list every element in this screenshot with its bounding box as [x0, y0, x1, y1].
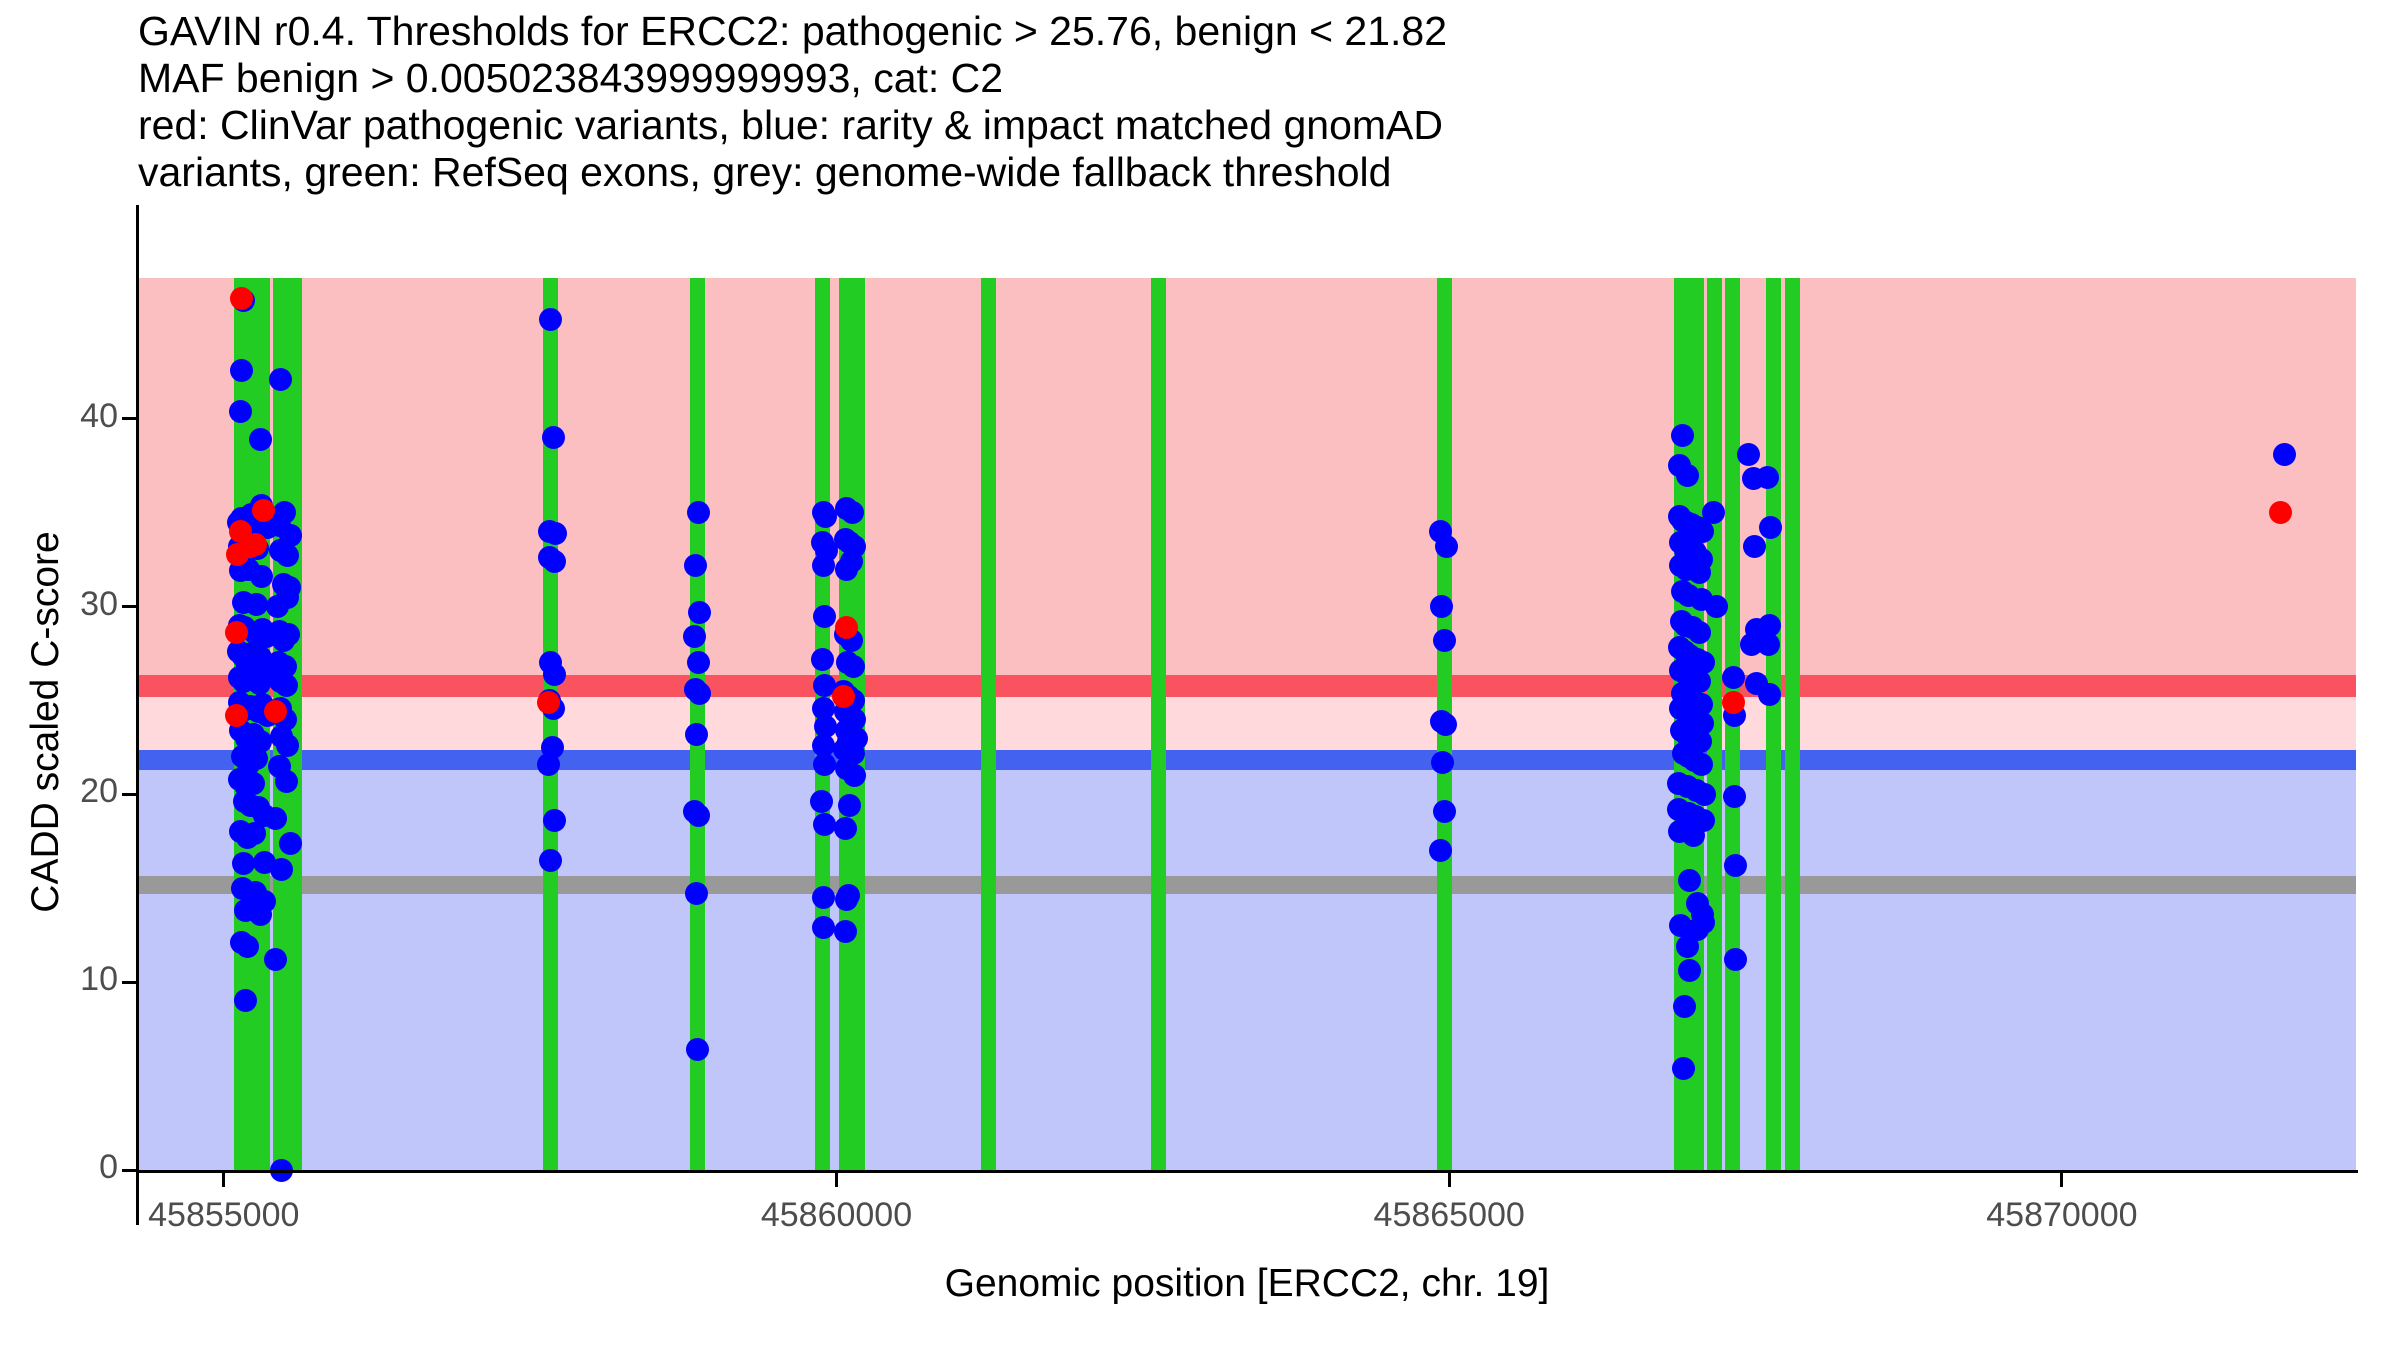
gnomad-variant-point — [1756, 466, 1779, 489]
exon-marker — [981, 278, 996, 1170]
ambiguous-region-band — [138, 686, 2356, 760]
gnomad-variant-point — [245, 593, 268, 616]
clinvar-pathogenic-point — [832, 685, 855, 708]
gnomad-variant-point — [1671, 424, 1694, 447]
title-line-4: variants, green: RefSeq exons, grey: gen… — [138, 149, 2338, 196]
x-tick-label: 45870000 — [1922, 1196, 2202, 1235]
clinvar-pathogenic-point — [264, 700, 287, 723]
gnomad-variant-point — [1737, 443, 1760, 466]
y-axis-label: CADD scaled C-score — [24, 322, 68, 1122]
gnomad-variant-point — [1676, 935, 1699, 958]
gnomad-variant-point — [688, 601, 711, 624]
gnomad-variant-point — [813, 605, 836, 628]
gnomad-variant-point — [1673, 995, 1696, 1018]
gnomad-variant-point — [1693, 783, 1716, 806]
y-tick — [122, 793, 136, 796]
y-axis-line — [136, 205, 139, 1225]
gnomad-variant-point — [1433, 800, 1456, 823]
gnomad-variant-point — [542, 426, 565, 449]
x-tick — [1448, 1173, 1451, 1187]
gnomad-variant-point — [1678, 869, 1701, 892]
chart-title-block: GAVIN r0.4. Thresholds for ERCC2: pathog… — [138, 8, 2338, 196]
gnomad-variant-point — [270, 858, 293, 881]
clinvar-pathogenic-point — [225, 704, 248, 727]
gnomad-variant-point — [842, 655, 865, 678]
title-line-1: GAVIN r0.4. Thresholds for ERCC2: pathog… — [138, 8, 2338, 55]
gnomad-variant-point — [687, 804, 710, 827]
gnomad-variant-point — [814, 505, 837, 528]
gnomad-variant-point — [1682, 824, 1705, 847]
benign-threshold-line — [138, 750, 2356, 770]
y-tick — [122, 417, 136, 420]
y-tick — [122, 981, 136, 984]
gnomad-variant-point — [1743, 535, 1766, 558]
gnomad-variant-point — [1676, 464, 1699, 487]
gnomad-variant-point — [811, 648, 834, 671]
gnomad-variant-point — [1759, 516, 1782, 539]
x-tick-label: 45855000 — [84, 1196, 364, 1235]
gnomad-variant-point — [269, 368, 292, 391]
exon-marker — [1766, 278, 1781, 1170]
exon-marker — [1785, 278, 1800, 1170]
x-axis-label: Genomic position [ERCC2, chr. 19] — [136, 1262, 2358, 1306]
gnomad-variant-point — [685, 723, 708, 746]
exon-marker — [543, 278, 558, 1170]
pathogenic-region-band — [138, 278, 2356, 686]
chart-root: GAVIN r0.4. Thresholds for ERCC2: pathog… — [0, 0, 2400, 1350]
gnomad-variant-point — [1431, 751, 1454, 774]
gnomad-variant-point — [275, 770, 298, 793]
gnomad-variant-point — [687, 501, 710, 524]
gnomad-variant-point — [688, 682, 711, 705]
threshold-bands-layer — [138, 278, 2356, 1170]
clinvar-pathogenic-point — [244, 533, 267, 556]
clinvar-pathogenic-point — [230, 287, 253, 310]
x-tick — [222, 1173, 225, 1187]
exon-marker — [1151, 278, 1166, 1170]
gnomad-variant-point — [1690, 753, 1713, 776]
gnomad-variant-point — [276, 734, 299, 757]
gnomad-variant-point — [264, 807, 287, 830]
gnomad-variant-point — [537, 753, 560, 776]
gnomad-variant-point — [249, 428, 272, 451]
gnomad-variant-point — [834, 817, 857, 840]
clinvar-pathogenic-point — [1722, 691, 1745, 714]
gnomad-variant-point — [543, 663, 566, 686]
y-tick — [122, 1169, 136, 1172]
gnomad-variant-point — [2273, 443, 2296, 466]
gnomad-variant-point — [1724, 948, 1747, 971]
gnomad-variant-point — [273, 501, 296, 524]
gnomad-variant-point — [812, 554, 835, 577]
title-line-3: red: ClinVar pathogenic variants, blue: … — [138, 102, 2338, 149]
gnomad-variant-point — [1688, 561, 1711, 584]
gnomad-variant-point — [685, 882, 708, 905]
gnomad-variant-point — [843, 764, 866, 787]
title-line-2: MAF benign > 0.005023843999999993, cat: … — [138, 55, 2338, 102]
pathogenic-threshold-line — [138, 675, 2356, 697]
gnomad-variant-point — [1705, 595, 1728, 618]
genome-wide-fallback-line — [138, 876, 2356, 894]
gnomad-variant-point — [1672, 1057, 1695, 1080]
gnomad-variant-point — [813, 813, 836, 836]
gnomad-variant-point — [1692, 911, 1715, 934]
gnomad-variant-point — [841, 501, 864, 524]
gnomad-variant-point — [684, 554, 707, 577]
x-tick — [835, 1173, 838, 1187]
gnomad-variant-point — [812, 886, 835, 909]
gnomad-variant-point — [245, 747, 268, 770]
gnomad-variant-point — [1757, 633, 1780, 656]
x-tick-label: 45860000 — [696, 1196, 976, 1235]
benign-region-band — [138, 760, 2356, 1170]
clinvar-pathogenic-point — [2269, 501, 2292, 524]
gnomad-variant-point — [539, 849, 562, 872]
gnomad-variant-point — [276, 586, 299, 609]
gnomad-variant-point — [544, 522, 567, 545]
gnomad-variant-point — [230, 359, 253, 382]
y-tick — [122, 605, 136, 608]
clinvar-pathogenic-point — [537, 691, 560, 714]
x-axis-line — [136, 1170, 2358, 1173]
gnomad-variant-point — [1435, 535, 1458, 558]
gnomad-variant-point — [279, 832, 302, 855]
x-tick — [2060, 1173, 2063, 1187]
plot-panel — [138, 278, 2356, 1170]
gnomad-variant-point — [229, 400, 252, 423]
gnomad-variant-point — [1723, 785, 1746, 808]
x-tick-label: 45865000 — [1309, 1196, 1589, 1235]
gnomad-variant-point — [539, 308, 562, 331]
y-tick-label: 0 — [0, 1148, 118, 1187]
gnomad-variant-point — [236, 935, 259, 958]
gnomad-variant-point — [249, 903, 272, 926]
